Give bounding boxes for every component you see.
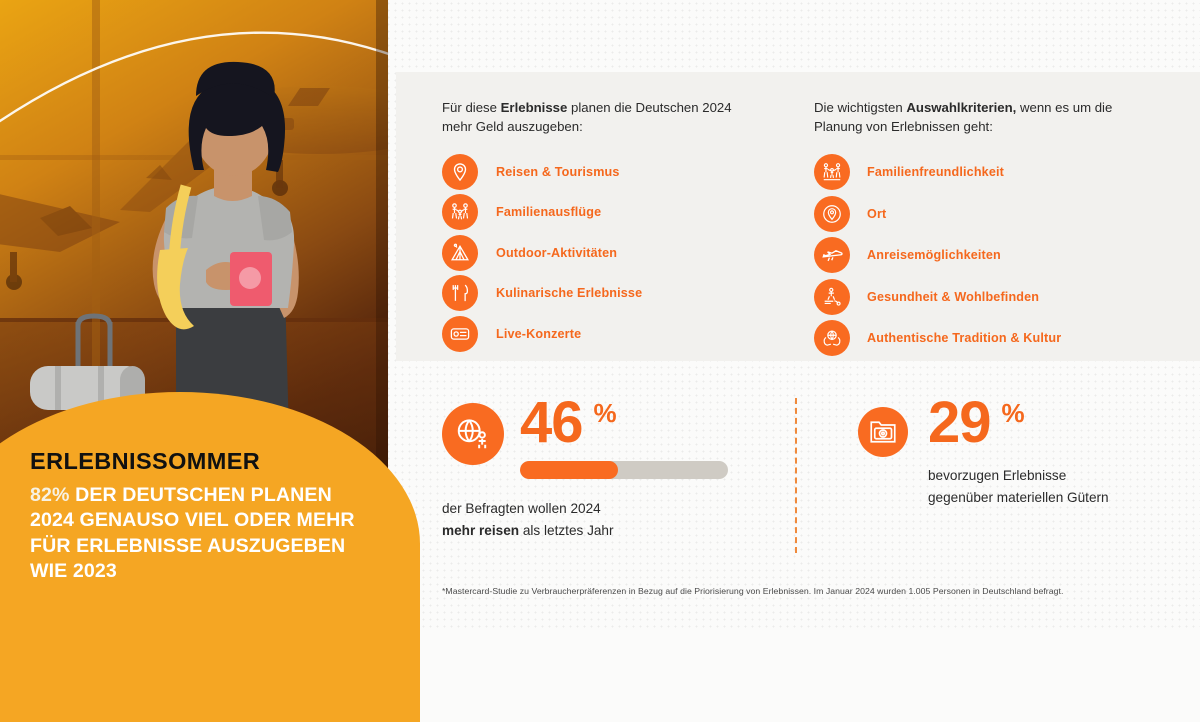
- stats-section: 46% der Befragten wollen 2024 mehr reise…: [396, 395, 1200, 565]
- stat-caption: der Befragten wollen 2024 mehr reisen al…: [442, 498, 728, 542]
- list-item-label: Kulinarische Erlebnisse: [496, 286, 642, 300]
- list-item[interactable]: Ort: [814, 193, 1114, 234]
- heading-bold: Erlebnisse: [501, 100, 568, 115]
- list-item-label: Familienfreundlichkeit: [867, 165, 1004, 179]
- list-item-label: Anreisemöglichkeiten: [867, 248, 1001, 262]
- globe-person-icon: [442, 403, 504, 465]
- hands-globe-icon: [814, 320, 850, 356]
- list-item[interactable]: Familienausflüge: [442, 192, 814, 232]
- location-circle-icon: [814, 196, 850, 232]
- family-group-icon: [814, 154, 850, 190]
- list-item[interactable]: Reisen & Tourismus: [442, 152, 814, 192]
- stat-caption: bevorzugen Erlebnisse gegenüber materiel…: [928, 465, 1118, 509]
- list-item[interactable]: Kulinarische Erlebnisse: [442, 273, 814, 313]
- progress-bar-track: [520, 461, 728, 479]
- progress-bar-fill: [520, 461, 618, 479]
- heading-pre: Die wichtigsten: [814, 100, 906, 115]
- stat-value: 46%: [520, 395, 728, 451]
- wellness-icon: [814, 279, 850, 315]
- heading-pre: Für diese: [442, 100, 501, 115]
- tent-icon: [442, 235, 478, 271]
- list-item-label: Familienausflüge: [496, 205, 601, 219]
- experiences-heading: Für diese Erlebnisse planen die Deutsche…: [442, 98, 742, 137]
- list-item[interactable]: Authentische Tradition & Kultur: [814, 318, 1114, 359]
- hero-headline: 82% DER DEUTSCHEN PLANEN 2024 GENAUSO VI…: [30, 483, 360, 586]
- hero-headline-rest: DER DEUTSCHEN PLANEN 2024 GENAUSO VIEL O…: [30, 484, 355, 583]
- stats-divider: [795, 398, 797, 553]
- caption-bold: mehr reisen: [442, 523, 519, 538]
- caption-line-2: als letztes Jahr: [519, 523, 613, 538]
- photo-folder-icon: [858, 407, 908, 457]
- list-item-label: Gesundheit & Wohlbefinden: [867, 290, 1039, 304]
- footnote: *Mastercard-Studie zu Verbraucherpräfere…: [442, 586, 1160, 596]
- panel-column-experiences: Für diese Erlebnisse planen die Deutsche…: [442, 98, 814, 359]
- stat-number: 29: [928, 395, 991, 451]
- list-item-label: Ort: [867, 207, 886, 221]
- hero-percent: 82%: [30, 484, 70, 506]
- location-pin-icon: [442, 154, 478, 190]
- heading-bold: Auswahlkriterien,: [906, 100, 1016, 115]
- stat-travel-more: 46% der Befragten wollen 2024 mehr reise…: [442, 395, 728, 542]
- list-item[interactable]: Live-Konzerte: [442, 314, 814, 354]
- family-icon: [442, 194, 478, 230]
- hero-text-block: ERLEBNISSOMMER 82% DER DEUTSCHEN PLANEN …: [30, 450, 360, 585]
- stat-number: 46: [520, 395, 583, 451]
- list-item-label: Authentische Tradition & Kultur: [867, 331, 1061, 345]
- list-item[interactable]: Familienfreundlichkeit: [814, 152, 1114, 193]
- list-item-label: Outdoor-Aktivitäten: [496, 246, 617, 260]
- cutlery-icon: [442, 275, 478, 311]
- criteria-heading: Die wichtigsten Auswahlkriterien, wenn e…: [814, 98, 1114, 137]
- list-item[interactable]: Gesundheit & Wohlbefinden: [814, 276, 1114, 317]
- stat-value: 29%: [928, 395, 1118, 451]
- list-item-label: Reisen & Tourismus: [496, 165, 620, 179]
- caption-line-1: der Befragten wollen 2024: [442, 501, 601, 516]
- list-item-label: Live-Konzerte: [496, 327, 581, 341]
- list-item[interactable]: Anreisemöglichkeiten: [814, 235, 1114, 276]
- percent-symbol: %: [594, 401, 617, 426]
- percent-symbol: %: [1002, 401, 1025, 426]
- list-item[interactable]: Outdoor-Aktivitäten: [442, 233, 814, 273]
- ticket-icon: [442, 316, 478, 352]
- airplane-icon: [814, 237, 850, 273]
- panel-column-criteria: Die wichtigsten Auswahlkriterien, wenn e…: [814, 98, 1114, 359]
- stat-prefer-experiences: 29% bevorzugen Erlebnisse gegenüber mate…: [858, 395, 1118, 509]
- info-panel: Für diese Erlebnisse planen die Deutsche…: [396, 72, 1200, 361]
- hero-kicker: ERLEBNISSOMMER: [30, 450, 360, 474]
